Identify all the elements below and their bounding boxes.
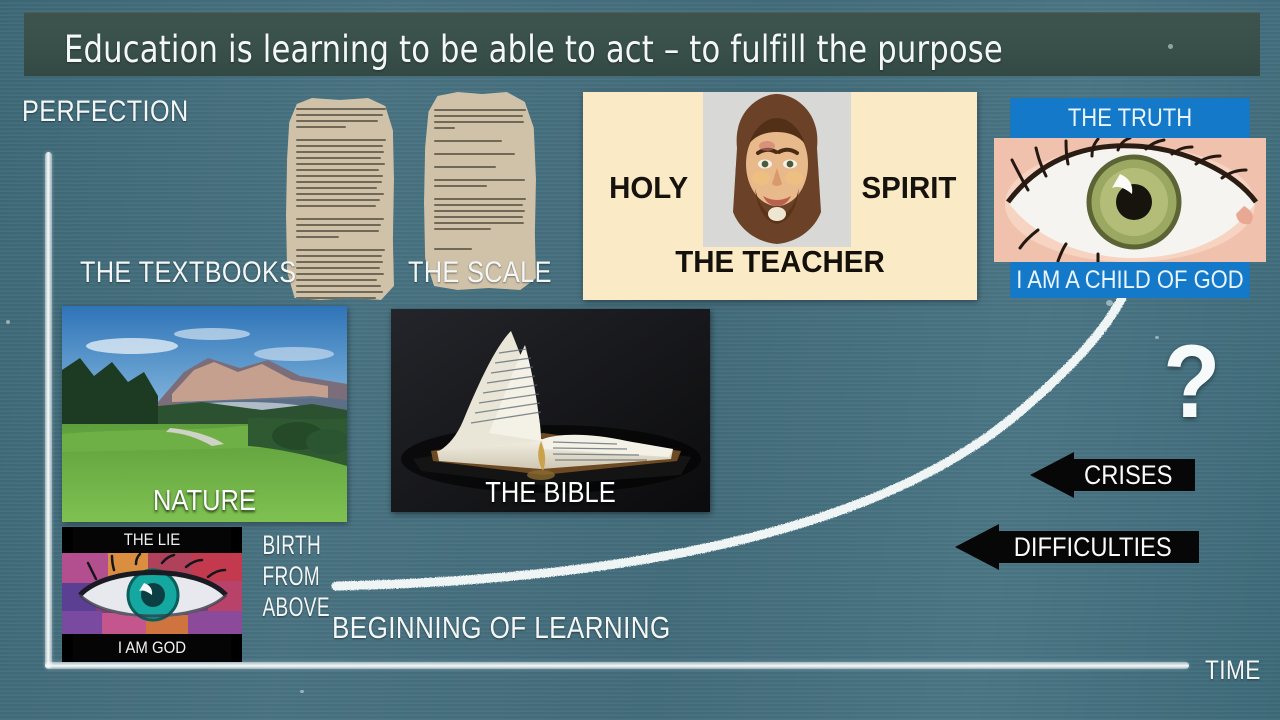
- label-nature: NATURE: [79, 485, 330, 518]
- teacher-word-holy: HOLY: [609, 170, 688, 206]
- chalk-speck: [6, 320, 10, 324]
- chalk-speck: [1106, 300, 1113, 306]
- arrow-label-crises: CRISES: [1084, 460, 1172, 491]
- page-title: Education is learning to be able to act …: [64, 28, 1003, 71]
- jesus-portrait-image: [703, 92, 851, 247]
- green-eye-image: [994, 138, 1266, 262]
- lie-panel: THE LIE: [62, 527, 242, 662]
- chalk-speck: [300, 690, 304, 693]
- nature-image-card: NATURE: [62, 306, 347, 522]
- label-the-bible: THE BIBLE: [410, 477, 691, 510]
- birth-line-1: BIRTH: [262, 530, 317, 561]
- truth-panel: THE TRUTH: [994, 98, 1266, 298]
- birth-line-3: ABOVE: [262, 592, 317, 623]
- arrow-body: CRISES: [1074, 459, 1195, 491]
- slide-canvas: Education is learning to be able to act …: [0, 0, 1280, 720]
- label-i-am-god: I AM GOD: [73, 634, 231, 662]
- mosaic-eye-image: [62, 553, 242, 634]
- teacher-panel: HOLY SPIRIT THE TEACHER: [583, 92, 977, 300]
- arrow-label-difficulties: DIFFICULTIES: [1014, 532, 1172, 563]
- beginning-of-learning-label: BEGINNING OF LEARNING: [332, 610, 671, 646]
- label-the-truth: THE TRUTH: [1010, 98, 1249, 138]
- teacher-word-spirit: SPIRIT: [862, 170, 957, 206]
- chalk-speck: [1155, 336, 1159, 339]
- arrow-head-icon: [955, 524, 999, 570]
- commandments-tablet-left: [286, 98, 394, 300]
- arrow-body: DIFFICULTIES: [999, 531, 1199, 563]
- arrow-difficulties: DIFFICULTIES: [955, 524, 1199, 570]
- label-the-textbooks: THE TEXTBOOKS: [80, 256, 296, 290]
- label-the-teacher: THE TEACHER: [593, 244, 967, 280]
- x-axis-line: [45, 662, 1189, 669]
- arrow-head-icon: [1030, 452, 1074, 498]
- question-mark-icon: ?: [1163, 330, 1220, 434]
- chalk-speck: [1168, 44, 1173, 49]
- label-i-am-a-child-of-god: I AM A CHILD OF GOD: [1010, 262, 1249, 298]
- tablet-left-text: [296, 108, 387, 309]
- y-axis-line: [45, 152, 52, 668]
- y-axis-label: PERFECTION: [22, 95, 189, 129]
- arrow-crises: CRISES: [1030, 452, 1195, 498]
- tablet-right-text: [434, 102, 528, 254]
- birth-from-above-label: BIRTH FROM ABOVE: [252, 530, 318, 623]
- bible-image-card: THE BIBLE: [391, 309, 710, 512]
- label-the-scale: THE SCALE: [408, 256, 552, 290]
- x-axis-label: TIME: [1205, 655, 1261, 686]
- birth-line-2: FROM: [262, 561, 317, 592]
- label-the-lie: THE LIE: [73, 527, 231, 553]
- title-banner: Education is learning to be able to act …: [24, 12, 1260, 76]
